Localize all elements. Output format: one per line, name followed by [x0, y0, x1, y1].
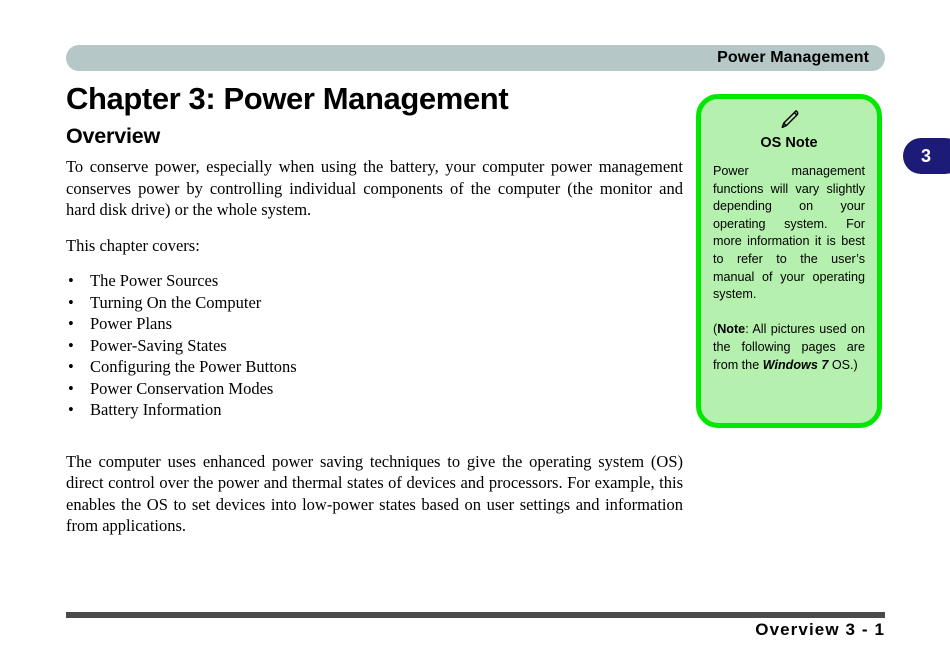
- list-item-label: Power Plans: [90, 314, 172, 333]
- running-header-title: Power Management: [717, 49, 869, 67]
- os-note-paragraph-2: (Note: All pictures used on the followin…: [713, 321, 865, 374]
- main-content-column: Chapter 3: Power Management Overview To …: [66, 82, 683, 537]
- os-note-box: OS Note Power management functions will …: [696, 94, 882, 428]
- footer-rule: [66, 612, 885, 618]
- list-item: •Power Conservation Modes: [66, 378, 683, 400]
- note-label: Note: [717, 322, 745, 336]
- closing-paragraph: The computer uses enhanced power saving …: [66, 451, 683, 537]
- list-item-label: Power-Saving States: [90, 336, 227, 355]
- bullet-icon: •: [68, 356, 74, 378]
- bullet-icon: •: [68, 292, 74, 314]
- list-item-label: Turning On the Computer: [90, 293, 261, 312]
- list-item-label: Battery Information: [90, 400, 222, 419]
- bullet-icon: •: [68, 399, 74, 421]
- note-body-second: OS.): [828, 358, 857, 372]
- list-item-label: The Power Sources: [90, 271, 218, 290]
- running-header-bar: Power Management: [66, 45, 885, 71]
- bullet-icon: •: [68, 378, 74, 400]
- list-item: •Power-Saving States: [66, 335, 683, 357]
- os-note-paragraph-1: Power management functions will vary sli…: [713, 163, 865, 304]
- list-item: •Configuring the Power Buttons: [66, 356, 683, 378]
- chapter-contents-list: •The Power Sources •Turning On the Compu…: [66, 270, 683, 421]
- list-spacer: [66, 421, 683, 451]
- list-item: •Turning On the Computer: [66, 292, 683, 314]
- os-note-content: OS Note Power management functions will …: [701, 99, 877, 374]
- bullet-icon: •: [68, 335, 74, 357]
- list-intro-paragraph: This chapter covers:: [66, 235, 683, 257]
- footer-page-label: Overview 3 - 1: [755, 620, 885, 640]
- list-item-label: Power Conservation Modes: [90, 379, 273, 398]
- chapter-title: Chapter 3: Power Management: [66, 82, 683, 116]
- list-item: •The Power Sources: [66, 270, 683, 292]
- chapter-tab-number: 3: [921, 147, 931, 165]
- list-item-label: Configuring the Power Buttons: [90, 357, 297, 376]
- section-title: Overview: [66, 124, 683, 148]
- bullet-icon: •: [68, 313, 74, 335]
- os-note-heading: OS Note: [713, 135, 865, 151]
- intro-paragraph: To conserve power, especially when using…: [66, 156, 683, 221]
- bullet-icon: •: [68, 270, 74, 292]
- note-emphasis: Windows 7: [763, 358, 829, 372]
- list-item: •Battery Information: [66, 399, 683, 421]
- list-item: •Power Plans: [66, 313, 683, 335]
- document-page: Power Management 3 Chapter 3: Power Mana…: [0, 0, 950, 668]
- pen-icon: [713, 109, 865, 135]
- chapter-thumb-tab: 3: [903, 138, 950, 174]
